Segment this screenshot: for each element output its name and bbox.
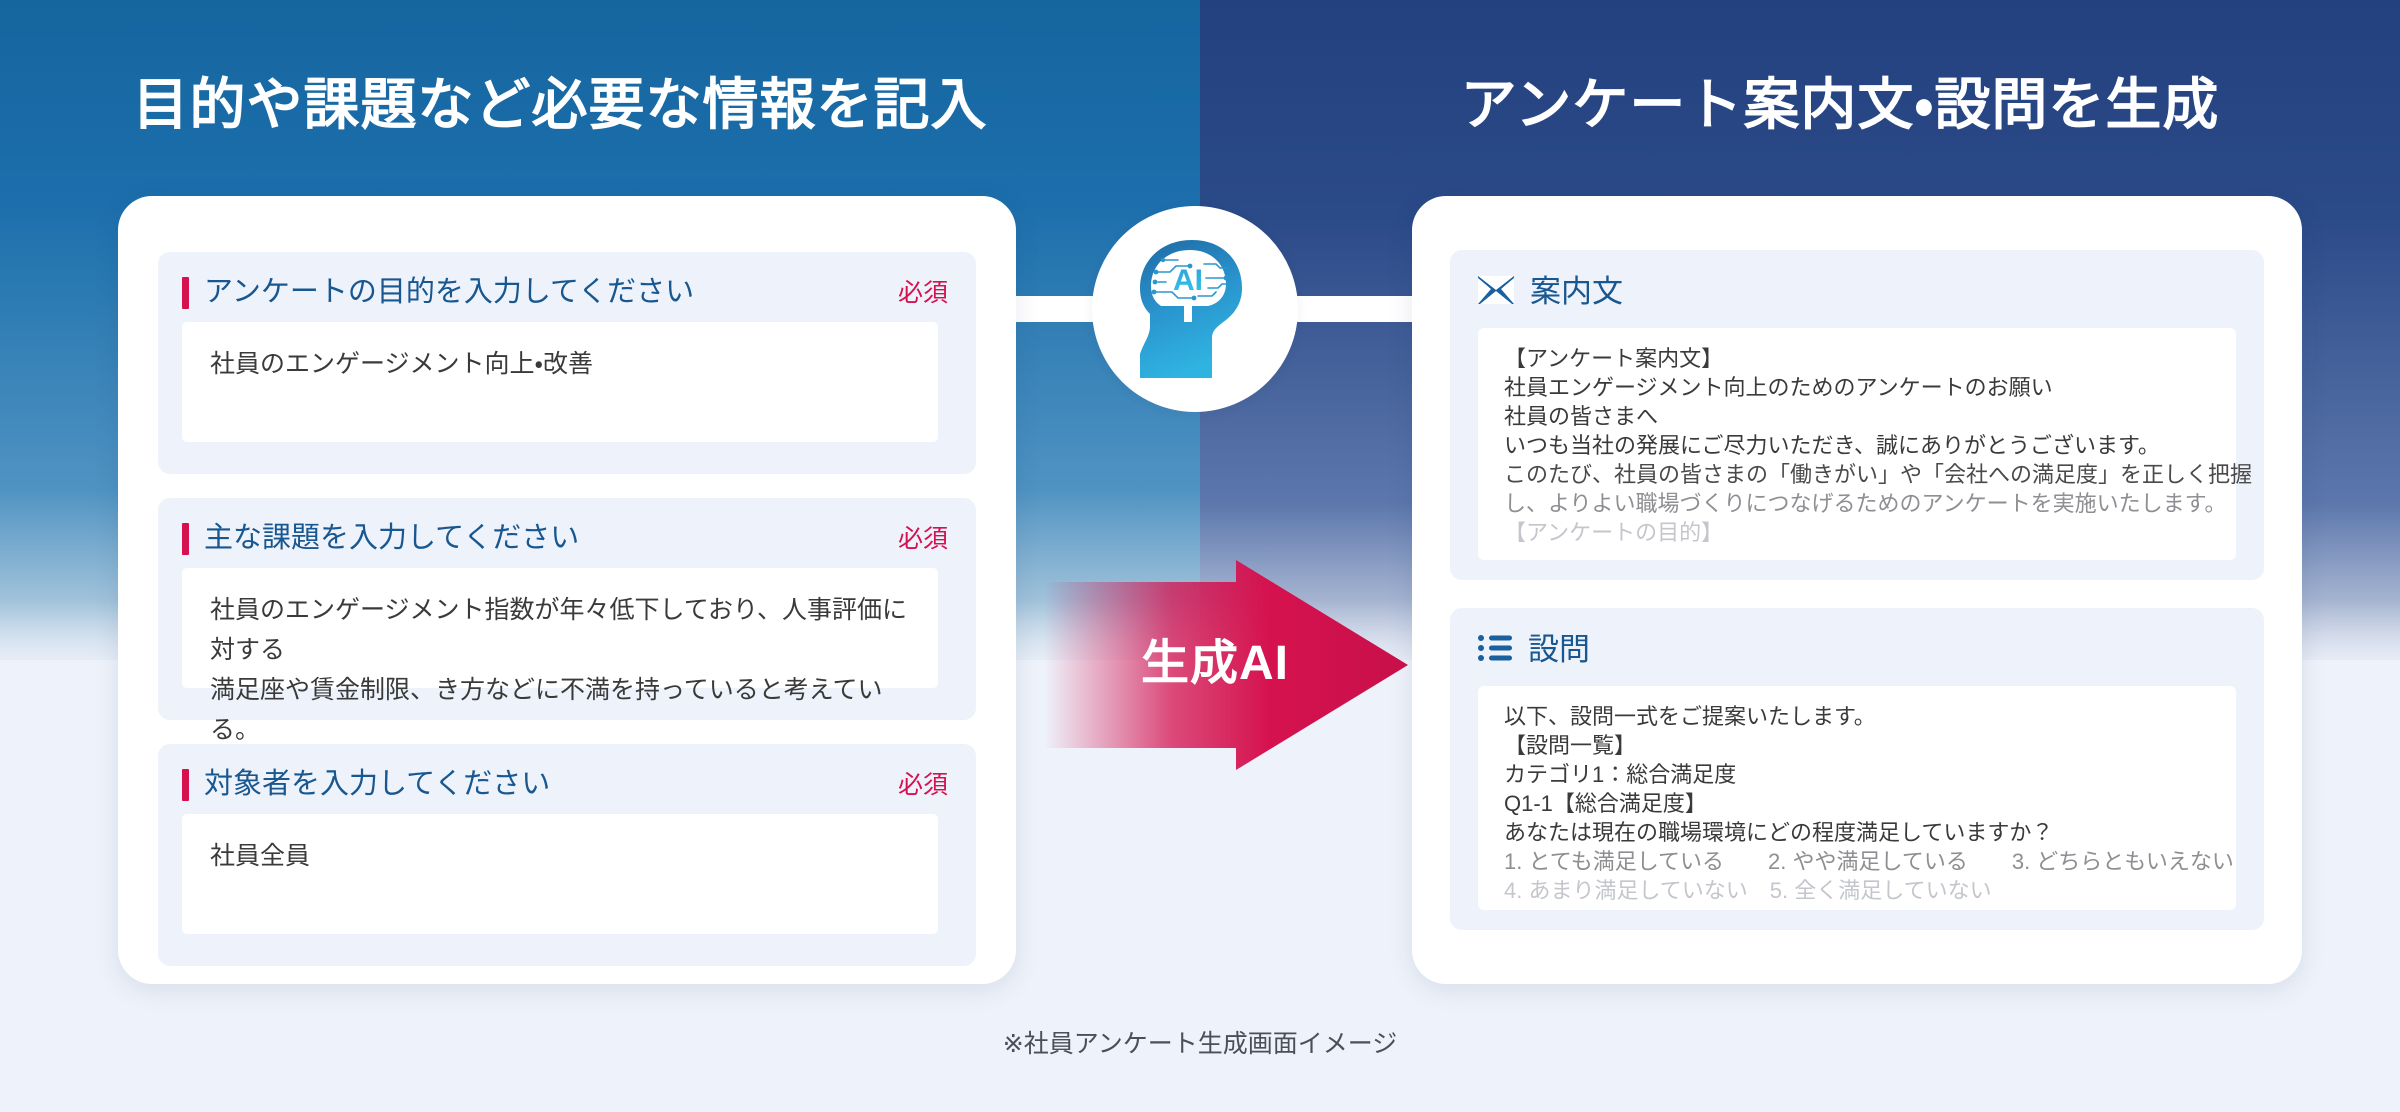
heading-right: アンケート案内文・設問を生成: [1280, 60, 2400, 141]
field-header: 対象者を入力してください 必須: [182, 766, 952, 802]
text-line: 【アンケート案内文】: [1504, 344, 2222, 373]
text-line: し、よりよい職場づくりにつなげるためのアンケートを実施いたします。: [1504, 489, 2222, 518]
panel-invitation-text: 案内文 【アンケート案内文】 社員エンゲージメント向上のためのアンケートのお願い…: [1450, 250, 2264, 580]
panel-questions: 設問 以下、設問一式をご提案いたします。 【設問一覧】 カテゴリ1：総合満足度 …: [1450, 608, 2264, 930]
output-result-card: 案内文 【アンケート案内文】 社員エンゲージメント向上のためのアンケートのお願い…: [1412, 196, 2302, 984]
panel-title: 設問: [1528, 628, 1590, 672]
required-badge: 必須: [898, 276, 948, 310]
heading-left: 目的や課題など必要な情報を記入: [0, 60, 1120, 141]
field-accent-bar: [182, 277, 189, 309]
text-line: Q1-1【総合満足度】: [1504, 789, 2222, 818]
list-icon: [1478, 634, 1512, 667]
questions-text-lines: 以下、設問一式をご提案いたします。 【設問一覧】 カテゴリ1：総合満足度 Q1-…: [1504, 702, 2222, 905]
invitation-text-box[interactable]: 【アンケート案内文】 社員エンゲージメント向上のためのアンケートのお願い 社員の…: [1478, 328, 2236, 560]
form-field-issues[interactable]: 主な課題を入力してください 必須 社員のエンゲージメント指数が年々低下しており、…: [158, 498, 976, 720]
text-line: このたび、社員の皆さまの「働きがい」や「会社への満足度」を正しく把握: [1504, 460, 2222, 489]
target-input[interactable]: 社員全員: [182, 814, 938, 934]
invitation-text-lines: 【アンケート案内文】 社員エンゲージメント向上のためのアンケートのお願い 社員の…: [1504, 344, 2222, 547]
issues-input-value: 社員のエンゲージメント指数が年々低下しており、人事評価に対する 満足座や賃金制限…: [210, 590, 918, 750]
generative-ai-arrow: 生成AI: [1040, 560, 1410, 770]
field-label: 主な課題を入力してください: [204, 520, 579, 556]
slide-canvas: 目的や課題など必要な情報を記入 アンケート案内文・設問を生成 アンケートの目的を…: [0, 0, 2400, 1112]
text-line: 1. とても満足している 2. やや満足している 3. どちらともいえない: [1504, 847, 2222, 876]
purpose-input[interactable]: 社員のエンゲージメント向上・改善: [182, 322, 938, 442]
text-line: 【設問一覧】: [1504, 731, 2222, 760]
field-label: アンケートの目的を入力してください: [204, 274, 694, 310]
text-line: 以下、設問一式をご提案いたします。: [1504, 702, 2222, 731]
ai-head-icon: AI: [1120, 234, 1270, 384]
form-field-purpose[interactable]: アンケートの目的を入力してください 必須 社員のエンゲージメント向上・改善: [158, 252, 976, 474]
text-line: あなたは現在の職場環境にどの程度満足していますか？: [1504, 818, 2222, 847]
text-line: 4. あまり満足していない 5. 全く満足していない: [1504, 876, 2222, 905]
target-input-value: 社員全員: [210, 836, 918, 876]
text-line: 社員の皆さまへ: [1504, 402, 2222, 431]
mail-icon: [1478, 276, 1514, 309]
ai-label: AI: [1173, 264, 1203, 297]
field-header: アンケートの目的を入力してください 必須: [182, 274, 952, 310]
field-accent-bar: [182, 769, 189, 801]
purpose-input-value: 社員のエンゲージメント向上・改善: [210, 344, 918, 384]
text-line: 【アンケートの目的】: [1504, 518, 2222, 547]
form-field-target[interactable]: 対象者を入力してください 必須 社員全員: [158, 744, 976, 966]
panel-header: 設問: [1478, 628, 1590, 672]
field-label: 対象者を入力してください: [204, 766, 550, 802]
panel-title: 案内文: [1530, 270, 1623, 314]
arrow-label: 生成AI: [1100, 623, 1330, 693]
text-line: カテゴリ1：総合満足度: [1504, 760, 2222, 789]
text-line: いつも当社の発展にご尽力いただき、誠にありがとうございます。: [1504, 431, 2222, 460]
input-form-card: アンケートの目的を入力してください 必須 社員のエンゲージメント向上・改善 主な…: [118, 196, 1016, 984]
field-header: 主な課題を入力してください 必須: [182, 520, 952, 556]
ai-brain-badge: AI: [1092, 206, 1298, 412]
connector-bar-right: [1278, 296, 1418, 322]
questions-text-box[interactable]: 以下、設問一式をご提案いたします。 【設問一覧】 カテゴリ1：総合満足度 Q1-…: [1478, 686, 2236, 910]
required-badge: 必須: [898, 768, 948, 802]
panel-header: 案内文: [1478, 270, 1623, 314]
image-caption: ※社員アンケート生成画面イメージ: [0, 1024, 2400, 1060]
text-line: 社員エンゲージメント向上のためのアンケートのお願い: [1504, 373, 2222, 402]
field-accent-bar: [182, 523, 189, 555]
required-badge: 必須: [898, 522, 948, 556]
issues-input[interactable]: 社員のエンゲージメント指数が年々低下しており、人事評価に対する 満足座や賃金制限…: [182, 568, 938, 688]
